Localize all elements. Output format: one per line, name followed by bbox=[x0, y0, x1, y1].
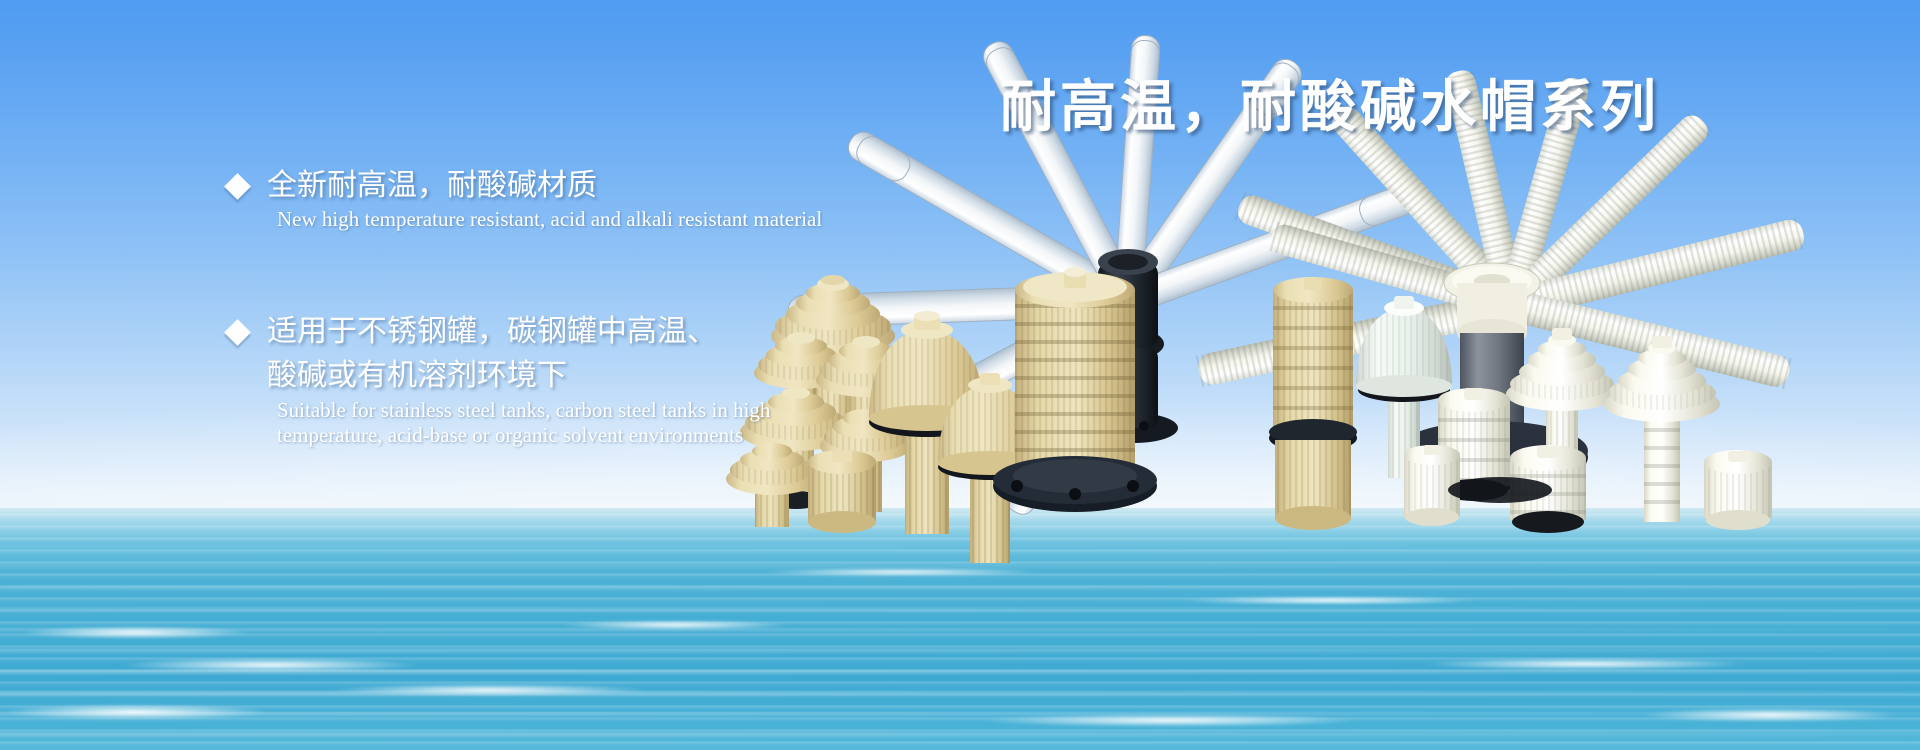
water-glint bbox=[20, 626, 250, 639]
feature-1-en-line-1: New high temperature resistant, acid and… bbox=[277, 206, 822, 232]
water-glint bbox=[0, 704, 270, 720]
feature-2-en-line-2: temperature, acid-base or organic solven… bbox=[277, 422, 770, 448]
feature-2-cn-line-2: 酸碱或有机溶剂环境下 bbox=[267, 354, 717, 398]
water-ripples-highlight bbox=[0, 508, 1920, 750]
feature-bullet-1: 全新耐高温，耐酸碱材质 New high temperature resista… bbox=[228, 164, 822, 232]
water-glint bbox=[330, 684, 650, 696]
feature-bullet-2: 适用于不锈钢罐，碳钢罐中高温、 酸碱或有机溶剂环境下 Suitable for … bbox=[228, 310, 770, 448]
feature-2-en-line-1: Suitable for stainless steel tanks, carb… bbox=[277, 397, 770, 423]
water-glint bbox=[1420, 658, 1750, 670]
water-glint bbox=[760, 568, 1040, 576]
product-banner: 耐高温，耐酸碱水帽系列 全新耐高温，耐酸碱材质 New high tempera… bbox=[0, 0, 1920, 750]
water-glint bbox=[1640, 708, 1900, 722]
feature-1-cn: 全新耐高温，耐酸碱材质 bbox=[267, 164, 597, 208]
water-glint bbox=[1180, 596, 1480, 605]
feature-2-cn-line-1: 适用于不锈钢罐，碳钢罐中高温、 bbox=[267, 310, 717, 354]
water-glint bbox=[120, 658, 420, 672]
water-glint bbox=[980, 714, 1360, 727]
page-title: 耐高温，耐酸碱水帽系列 bbox=[1000, 62, 1660, 143]
water-background bbox=[0, 508, 1920, 750]
diamond-bullet-icon bbox=[224, 173, 251, 200]
water-glint bbox=[560, 620, 790, 630]
diamond-bullet-icon bbox=[224, 319, 251, 346]
